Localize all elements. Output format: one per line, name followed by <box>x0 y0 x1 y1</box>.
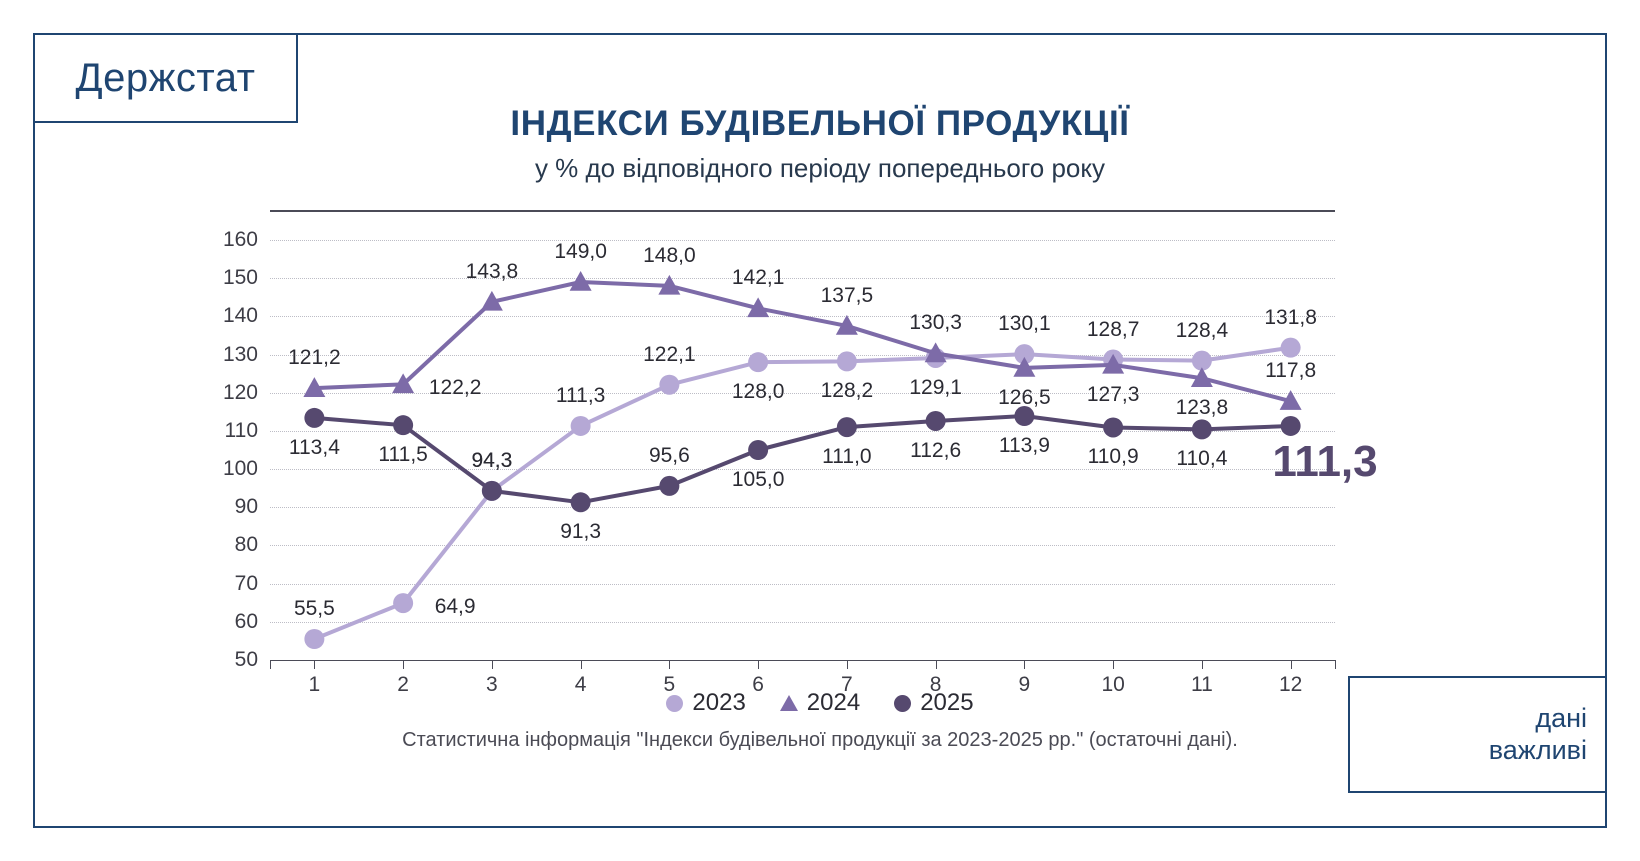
title-divider <box>270 210 1335 212</box>
x-axis-tick-label: 10 <box>1093 673 1133 697</box>
y-axis-tick-label: 160 <box>208 228 258 252</box>
brand-logo-box: Держстат <box>33 33 298 123</box>
data-point-2025-3 <box>482 481 502 501</box>
x-axis-tick-label: 3 <box>472 673 512 697</box>
y-axis-tick-label: 80 <box>208 533 258 557</box>
y-axis-tick-label: 100 <box>208 457 258 481</box>
x-axis-tick-label: 2 <box>383 673 423 697</box>
x-axis-tick-label: 5 <box>649 673 689 697</box>
data-point-2023-7 <box>837 351 857 371</box>
x-axis-tick <box>581 660 582 669</box>
data-label-2025-9: 113,9 <box>999 434 1050 458</box>
data-point-2023-2 <box>393 593 413 613</box>
data-point-2023-12 <box>1281 338 1301 358</box>
data-label-2024-3: 143,8 <box>466 260 519 284</box>
y-axis-tick-label: 90 <box>208 495 258 519</box>
y-axis-tick-label: 50 <box>208 648 258 672</box>
x-axis-tick <box>270 660 271 669</box>
x-axis-tick <box>1291 660 1292 669</box>
y-axis-tick-label: 150 <box>208 266 258 290</box>
data-label-2025-1: 113,4 <box>289 436 340 460</box>
x-axis-tick <box>1202 660 1203 669</box>
data-label-2025-7: 111,0 <box>822 445 871 469</box>
data-point-2025-2 <box>393 415 413 435</box>
data-label-2024-10: 127,3 <box>1087 383 1140 407</box>
data-point-2025-7 <box>837 417 857 437</box>
data-label-2025-5: 95,6 <box>649 444 690 468</box>
data-label-2023-11: 128,4 <box>1176 319 1229 343</box>
data-label-2023-12: 131,8 <box>1264 306 1317 330</box>
legend-circle-icon <box>894 695 911 712</box>
data-label-2023-7: 128,2 <box>821 379 874 403</box>
data-point-2025-6 <box>748 440 768 460</box>
page-subtitle: у % до відповідного періоду попереднього… <box>0 153 1640 184</box>
y-axis-tick-label: 110 <box>208 419 258 443</box>
data-label-2024-6: 142,1 <box>732 266 785 290</box>
data-label-2023-5: 122,1 <box>643 343 696 367</box>
y-axis-tick-label: 140 <box>208 304 258 328</box>
data-label-2023-10: 128,7 <box>1087 318 1140 342</box>
badge-line-2: важливі <box>1489 735 1587 767</box>
x-axis-tick-label: 11 <box>1182 673 1222 697</box>
x-axis-tick <box>314 660 315 669</box>
data-label-2025-3: 94,3 <box>471 449 512 473</box>
x-axis-tick-label: 1 <box>294 673 334 697</box>
x-axis-tick <box>403 660 404 669</box>
series-line-2025 <box>314 416 1290 502</box>
x-axis-tick <box>1024 660 1025 669</box>
data-label-2024-12: 117,8 <box>1265 359 1316 383</box>
x-axis-tick <box>936 660 937 669</box>
data-label-2024-2: 122,2 <box>429 376 482 400</box>
x-axis-tick-label: 12 <box>1271 673 1311 697</box>
x-axis-line <box>270 660 1335 661</box>
data-label-2025-6: 105,0 <box>732 468 785 492</box>
brand-logo-label: Держстат <box>76 56 256 101</box>
data-point-2025-10 <box>1103 417 1123 437</box>
legend-circle-icon <box>666 695 683 712</box>
y-axis-tick-label: 70 <box>208 572 258 596</box>
y-axis-tick-label: 120 <box>208 381 258 405</box>
data-label-2024-11: 123,8 <box>1176 396 1229 420</box>
data-label-2024-9: 126,5 <box>998 386 1051 410</box>
y-axis-tick-label: 130 <box>208 343 258 367</box>
data-point-2025-8 <box>926 411 946 431</box>
badge-line-1: дані <box>1535 703 1587 735</box>
x-axis-tick-label: 6 <box>738 673 778 697</box>
data-point-2025-4 <box>571 492 591 512</box>
x-axis-tick-label: 8 <box>916 673 956 697</box>
x-axis-tick-label: 4 <box>561 673 601 697</box>
data-label-2024-1: 121,2 <box>288 346 341 370</box>
data-label-2023-2: 64,9 <box>435 595 476 619</box>
data-label-2025-11: 110,4 <box>1176 447 1227 471</box>
data-label-2024-5: 148,0 <box>643 244 696 268</box>
dani-vazhlyvi-badge: дані важливі <box>1348 676 1607 793</box>
data-label-2023-4: 111,3 <box>556 384 605 408</box>
data-point-2025-5 <box>659 476 679 496</box>
data-label-2024-7: 137,5 <box>821 284 874 308</box>
data-label-2025-8: 112,6 <box>910 439 961 463</box>
data-point-2025-11 <box>1192 419 1212 439</box>
data-point-2025-12 <box>1281 416 1301 436</box>
x-axis-tick <box>847 660 848 669</box>
x-axis-tick <box>1335 660 1336 669</box>
data-point-2023-1 <box>304 629 324 649</box>
x-axis-tick <box>492 660 493 669</box>
data-label-2023-8: 129,1 <box>909 376 962 400</box>
y-axis-tick-label: 60 <box>208 610 258 634</box>
highlight-value-label: 111,3 <box>1272 437 1377 487</box>
x-axis-tick-label: 7 <box>827 673 867 697</box>
x-axis-tick <box>758 660 759 669</box>
x-axis-tick-label: 9 <box>1004 673 1044 697</box>
data-point-2023-6 <box>748 352 768 372</box>
data-label-2025-10: 110,9 <box>1088 445 1139 469</box>
legend-triangle-icon <box>780 695 798 711</box>
chart-series-layer <box>270 240 1335 660</box>
data-label-2023-9: 130,1 <box>998 312 1051 336</box>
data-point-2023-4 <box>571 416 591 436</box>
data-label-2023-6: 128,0 <box>732 380 785 404</box>
data-point-2025-1 <box>304 408 324 428</box>
data-point-2023-5 <box>659 375 679 395</box>
x-axis-tick <box>1113 660 1114 669</box>
data-label-2025-2: 111,5 <box>378 443 427 467</box>
data-label-2023-1: 55,5 <box>294 597 335 621</box>
x-axis-tick <box>669 660 670 669</box>
data-label-2024-4: 149,0 <box>554 240 607 264</box>
data-label-2024-8: 130,3 <box>909 311 962 335</box>
data-label-2025-4: 91,3 <box>560 520 601 544</box>
